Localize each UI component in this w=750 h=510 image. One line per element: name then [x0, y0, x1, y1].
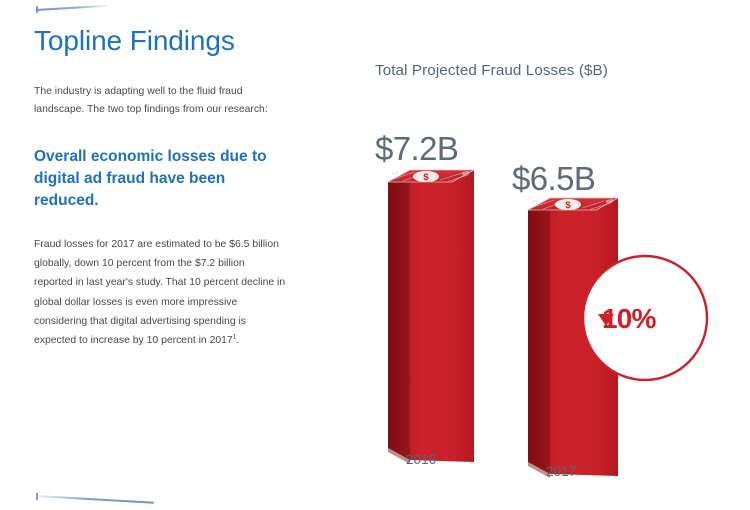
footnote-marker: 1: [233, 334, 237, 341]
bar-2016: $: [388, 170, 474, 464]
slide-canvas: Topline Findings The industry is adaptin…: [0, 0, 750, 510]
svg-text:$: $: [565, 200, 571, 211]
percent-change-label: 10%: [602, 303, 656, 335]
bar-value-2017: $6.5B: [512, 160, 595, 198]
bar-value-2016: $7.2B: [375, 130, 458, 168]
top-decorative-rule: [36, 5, 110, 11]
bottom-decorative-rule: [36, 495, 154, 504]
fraud-losses-chart: Total Projected Fraud Losses ($B): [370, 62, 732, 492]
intro-paragraph: The industry is adapting well to the flu…: [34, 83, 280, 119]
page-title: Topline Findings: [34, 26, 296, 57]
bars-svg: $: [370, 62, 732, 492]
bar-category-label-2016: 2016: [406, 452, 436, 467]
finding-body-paragraph: Fraud losses for 2017 are estimated to b…: [34, 235, 286, 351]
left-text-column: Topline Findings The industry is adaptin…: [34, 26, 296, 351]
finding-body-text: Fraud losses for 2017 are estimated to b…: [34, 239, 285, 347]
svg-text:$: $: [423, 172, 429, 183]
chart-plot-area: $: [370, 62, 732, 492]
finding-subheading: Overall economic losses due to digital a…: [34, 146, 284, 213]
bar-category-label-2017: 2017: [546, 464, 576, 479]
